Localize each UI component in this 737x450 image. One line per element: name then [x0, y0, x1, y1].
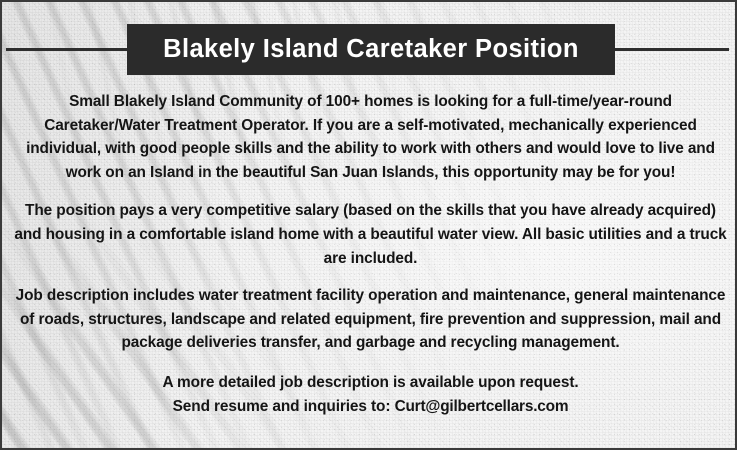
header-rule-right [611, 48, 729, 51]
advertisement: Blakely Island Caretaker Position Small … [0, 0, 737, 450]
header-rule-left [6, 48, 130, 51]
body-copy: Small Blakely Island Community of 100+ h… [14, 90, 727, 418]
contact-email[interactable]: Curt@gilbertcellars.com [395, 398, 569, 415]
title-banner: Blakely Island Caretaker Position [127, 24, 615, 75]
contact-line-1: A more detailed job description is avail… [162, 374, 578, 391]
paragraph-job-description: Job description includes water treatment… [14, 284, 727, 355]
contact-line-2-prefix: Send resume and inquiries to: [173, 398, 395, 415]
paragraph-compensation: The position pays a very competitive sal… [14, 199, 727, 270]
paragraph-overview: Small Blakely Island Community of 100+ h… [14, 90, 727, 184]
ad-content: Blakely Island Caretaker Position Small … [2, 2, 735, 448]
header-band: Blakely Island Caretaker Position [2, 24, 735, 76]
page-title: Blakely Island Caretaker Position [163, 35, 579, 64]
paragraph-contact: A more detailed job description is avail… [14, 371, 727, 418]
